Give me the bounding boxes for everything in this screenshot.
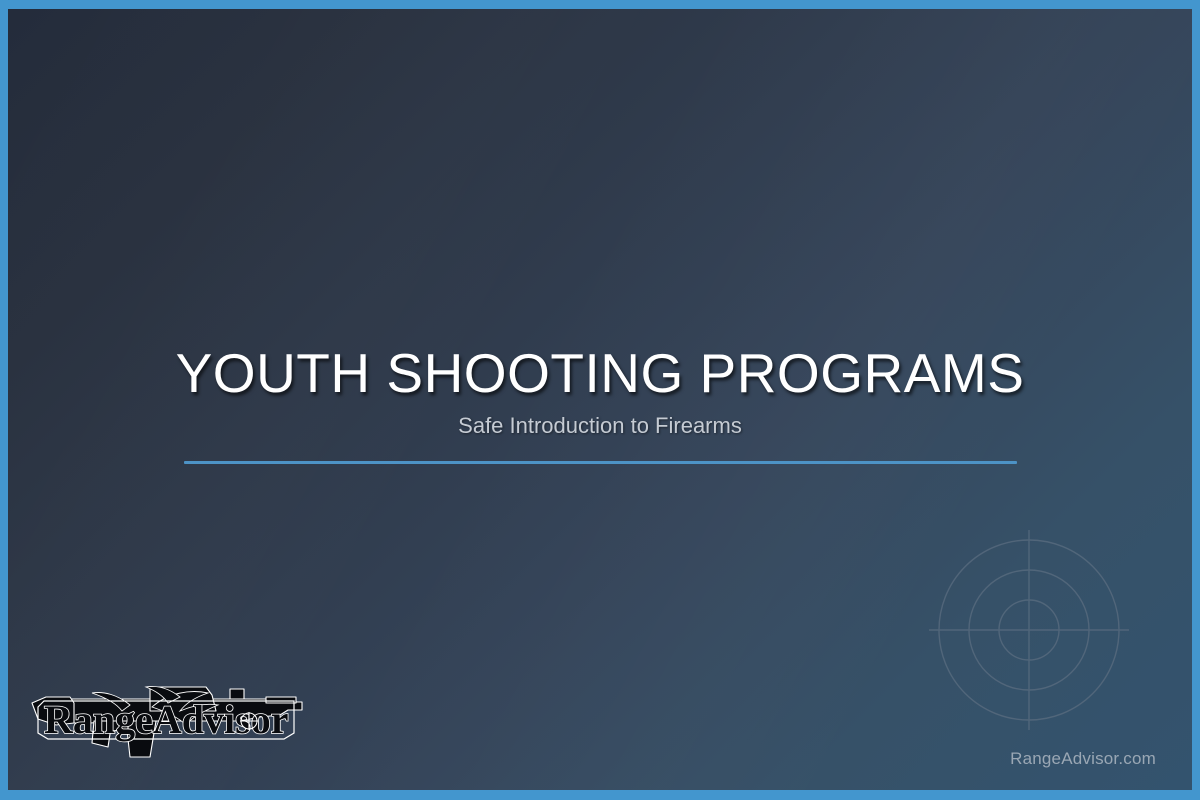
- page-subtitle: Safe Introduction to Firearms: [8, 412, 1192, 440]
- presentation-slide: YOUTH SHOOTING PROGRAMS Safe Introductio…: [0, 0, 1200, 800]
- accent-divider: [184, 461, 1017, 464]
- crosshair-target-watermark: [929, 530, 1129, 730]
- slide-canvas: YOUTH SHOOTING PROGRAMS Safe Introductio…: [8, 9, 1192, 790]
- logo-wordmark: RangeAdvisor: [44, 697, 288, 742]
- page-title: YOUTH SHOOTING PROGRAMS: [8, 343, 1192, 403]
- footer-url: RangeAdvisor.com: [1010, 749, 1156, 769]
- title-block: YOUTH SHOOTING PROGRAMS Safe Introductio…: [8, 343, 1192, 440]
- rangeadvisor-logo: RangeAdvisor: [30, 671, 310, 766]
